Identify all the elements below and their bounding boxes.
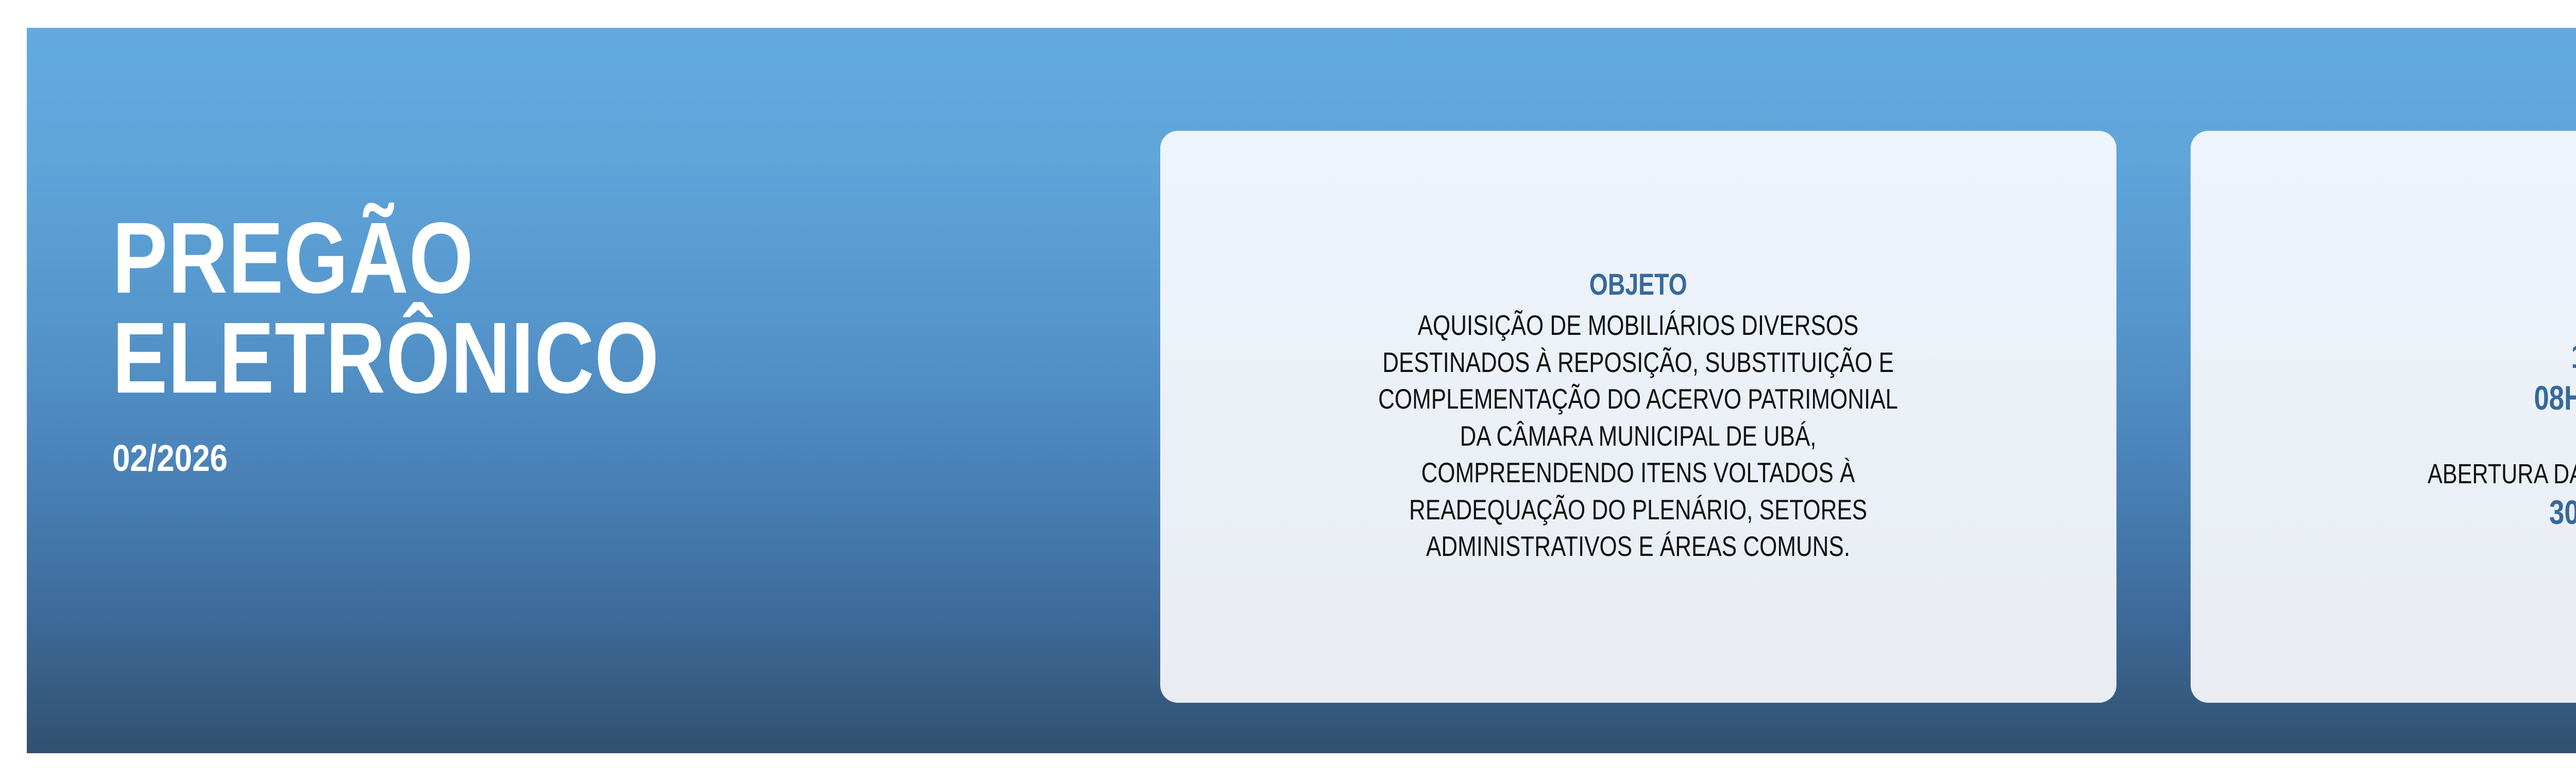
edital-number: 02/2026 — [112, 440, 954, 477]
propostas-value-line-1: 16/01/2026 ATÉ — [2571, 335, 2576, 377]
abertura-label: ABERTURA DA SESSÃO E ENVIO DE LANCES — [2428, 456, 2576, 492]
objeto-line: DESTINADOS À REPOSIÇÃO, SUBSTITUIÇÃO E — [1379, 344, 1899, 381]
objeto-line: DA CÂMARA MUNICIPAL DE UBÁ, — [1379, 418, 1899, 455]
abertura-value: 30/01/2026 ÀS 09H — [2549, 492, 2576, 533]
page-title-line-1: PREGÃO — [112, 208, 915, 308]
objeto-body: AQUISIÇÃO DE MOBILIÁRIOS DIVERSOS DESTIN… — [1313, 307, 1963, 565]
objeto-line: COMPREENDENDO ITENS VOLTADOS À — [1379, 454, 1899, 492]
objeto-heading: OBJETO — [1589, 268, 1687, 302]
banner-title-block: PREGÃO ELETRÔNICO 02/2026 — [112, 208, 1091, 477]
page-title-line-2: ELETRÔNICO — [112, 308, 915, 408]
objeto-card: OBJETO AQUISIÇÃO DE MOBILIÁRIOS DIVERSOS… — [1160, 131, 2116, 703]
objeto-line: AQUISIÇÃO DE MOBILIÁRIOS DIVERSOS — [1379, 307, 1899, 344]
objeto-line: ADMINISTRATIVOS E ÁREAS COMUNS. — [1379, 528, 1899, 565]
objeto-line: READEQUAÇÃO DO PLENÁRIO, SETORES — [1379, 492, 1899, 529]
objeto-line: COMPLEMENTAÇÃO DO ACERVO PATRIMONIAL — [1379, 381, 1899, 418]
datas-card: PROPOSTAS 16/01/2026 ATÉ 08H50 DE 30/01/… — [2191, 131, 2576, 703]
propostas-value-line-2: 08H50 DE 30/01/2026 — [2534, 377, 2576, 419]
pregao-banner: PREGÃO ELETRÔNICO 02/2026 OBJETO AQUISIÇ… — [27, 28, 2576, 753]
